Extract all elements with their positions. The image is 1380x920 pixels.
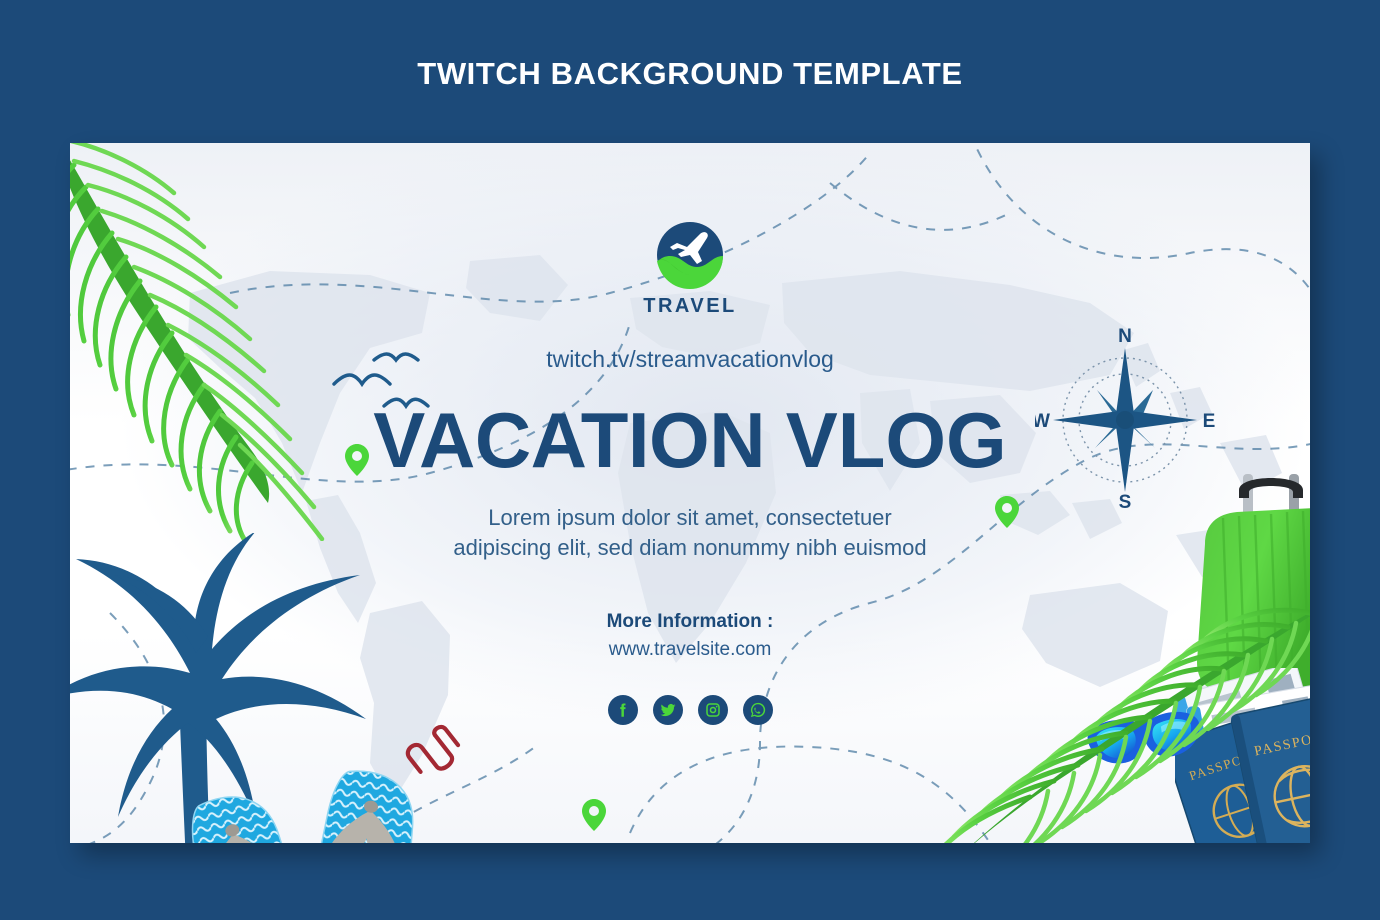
twitter-icon xyxy=(659,701,677,719)
banner-content: TRAVEL twitch.tv/streamvacationvlog VACA… xyxy=(70,143,1310,843)
airplane-over-hills-logo-icon xyxy=(656,221,724,289)
whatsapp-icon xyxy=(749,701,767,719)
banner-card: N E S W xyxy=(70,143,1310,843)
screenshot-stage: TWITCH BACKGROUND TEMPLATE xyxy=(0,0,1380,920)
travel-logo: TRAVEL xyxy=(70,221,1310,318)
more-information: More Information : www.travelsite.com xyxy=(70,608,1310,663)
more-information-label: More Information : xyxy=(70,608,1310,636)
instagram-icon xyxy=(704,701,722,719)
headline: VACATION VLOG xyxy=(70,401,1310,479)
website-url[interactable]: www.travelsite.com xyxy=(70,636,1310,664)
headline-word-two: VLOG xyxy=(786,396,1007,484)
tagline-line-1: Lorem ipsum dolor sit amet, consectetuer xyxy=(70,503,1310,533)
tagline: Lorem ipsum dolor sit amet, consectetuer… xyxy=(70,503,1310,562)
tagline-line-2: adipiscing elit, sed diam nonummy nibh e… xyxy=(70,533,1310,563)
social-link-instagram[interactable] xyxy=(698,695,728,725)
social-links xyxy=(70,695,1310,725)
social-link-facebook[interactable] xyxy=(608,695,638,725)
travel-wordmark: TRAVEL xyxy=(643,295,737,318)
page-title: TWITCH BACKGROUND TEMPLATE xyxy=(0,56,1380,92)
headline-word-one: VACATION xyxy=(373,396,765,484)
stream-url[interactable]: twitch.tv/streamvacationvlog xyxy=(70,346,1310,373)
facebook-icon xyxy=(614,701,632,719)
social-link-twitter[interactable] xyxy=(653,695,683,725)
social-link-whatsapp[interactable] xyxy=(743,695,773,725)
